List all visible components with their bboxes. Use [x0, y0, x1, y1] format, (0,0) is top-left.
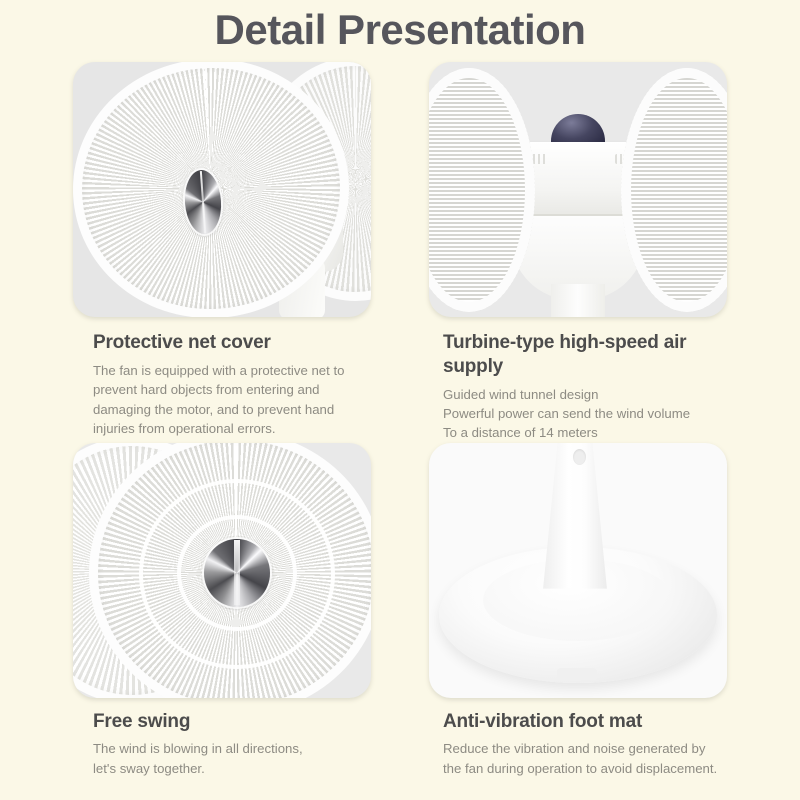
feature-body-line: To a distance of 14 meters: [443, 423, 723, 442]
stem-screw-icon: [573, 449, 586, 465]
feature-body-line: Powerful power can send the wind volume: [443, 404, 723, 423]
fan-grille-left-edge: [429, 68, 535, 312]
page-title: Detail Presentation: [0, 0, 800, 54]
feature-block-free-swing: Free swing The wind is blowing in all di…: [73, 443, 371, 778]
feature-body-anti-vibration-foot-mat: Reduce the vibration and noise generated…: [443, 739, 723, 778]
fan-front-illustration: [73, 443, 371, 698]
feature-grid: Protective net cover The fan is equipped…: [0, 62, 800, 778]
feature-image-turbine-air-supply[interactable]: [429, 62, 727, 317]
fan-angled-illustration: [73, 62, 371, 317]
feature-title-anti-vibration-foot-mat: Anti-vibration foot mat: [443, 710, 727, 734]
feature-block-turbine-air-supply: Turbine-type high-speed air supply Guide…: [429, 62, 727, 442]
feature-body-line: The wind is blowing in all directions,: [93, 739, 371, 758]
fan-post: [551, 284, 605, 317]
feature-title-turbine-air-supply: Turbine-type high-speed air supply: [443, 331, 727, 379]
fan-tapered-stem: [533, 443, 617, 589]
fan-rear-illustration: [429, 62, 727, 317]
fan-base-illustration: [429, 443, 727, 698]
feature-body-turbine-air-supply: Guided wind tunnel design Powerful power…: [443, 385, 723, 443]
feature-title-protective-net-cover: Protective net cover: [93, 331, 371, 355]
feature-title-free-swing: Free swing: [93, 710, 371, 734]
feature-body-line: let's sway together.: [93, 759, 371, 778]
feature-body-line: the fan during operation to avoid displa…: [443, 759, 723, 778]
feature-body-line: Guided wind tunnel design: [443, 385, 723, 404]
fan-hub-cap: [204, 539, 270, 607]
feature-block-anti-vibration-foot-mat: Anti-vibration foot mat Reduce the vibra…: [429, 443, 727, 778]
feature-image-protective-net-cover[interactable]: [73, 62, 371, 317]
feature-image-free-swing[interactable]: [73, 443, 371, 698]
feature-image-anti-vibration-foot-mat[interactable]: [429, 443, 727, 698]
fan-grille-right-edge: [621, 68, 727, 312]
feature-body-free-swing: The wind is blowing in all directions, l…: [93, 739, 371, 778]
feature-body-line: Reduce the vibration and noise generated…: [443, 739, 723, 758]
feature-body-protective-net-cover: The fan is equipped with a protective ne…: [93, 361, 371, 438]
base-notch: [557, 668, 597, 680]
feature-block-protective-net-cover: Protective net cover The fan is equipped…: [73, 62, 371, 442]
